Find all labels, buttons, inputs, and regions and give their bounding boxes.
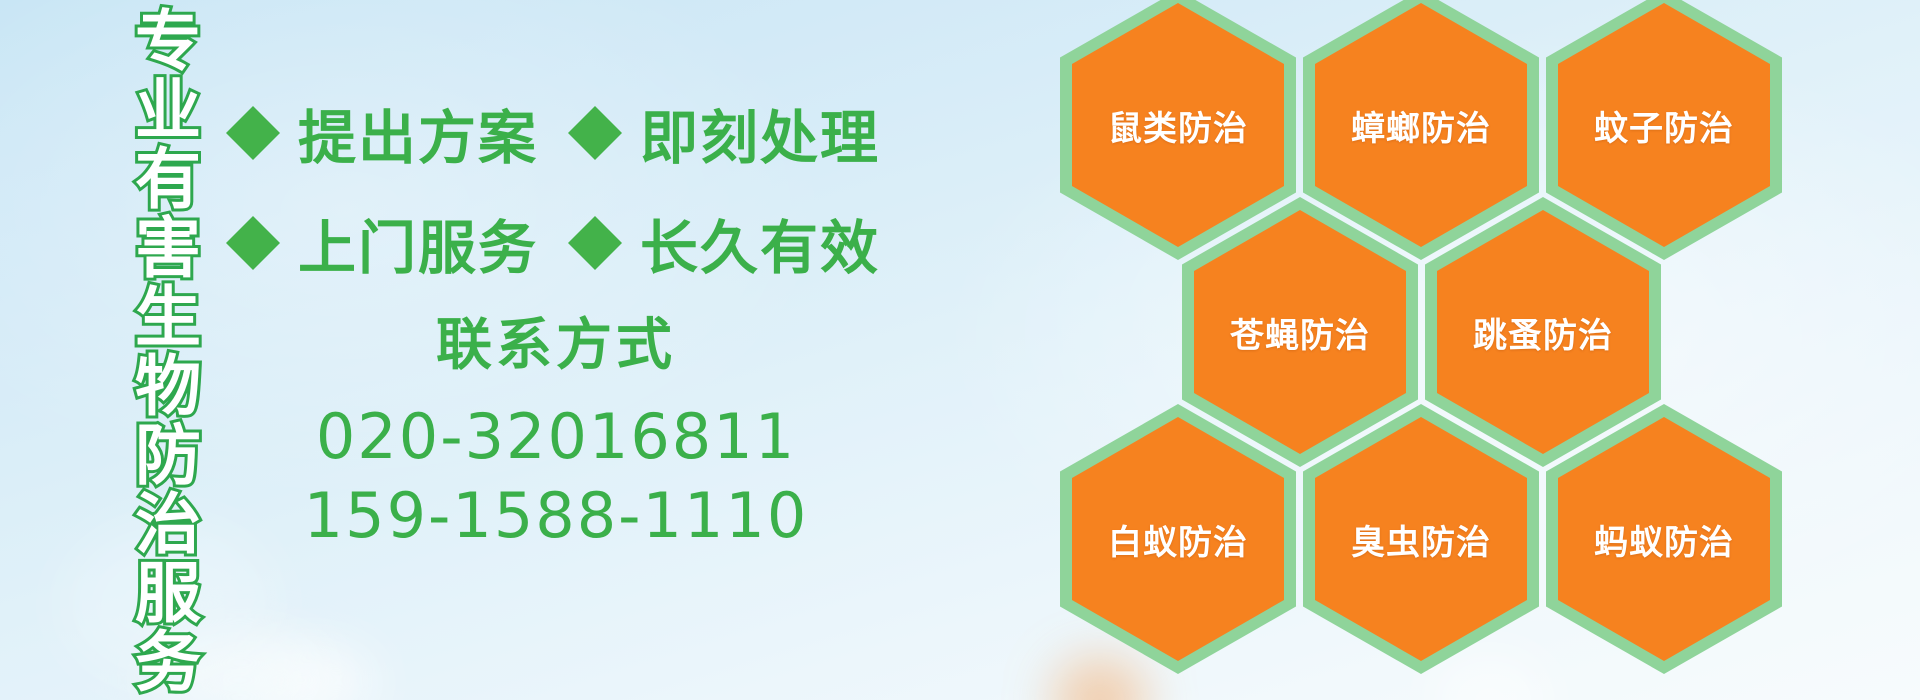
hex-label: 鼠类防治 bbox=[1108, 101, 1248, 150]
hex-inner: 鼠类防治 bbox=[1072, 3, 1284, 247]
feature-label: 长久有效 bbox=[640, 201, 880, 285]
service-honeycomb: 鼠类防治 蟑螂防治 蚊子防治 苍蝇防治 跳蚤防治 白蚁防治 bbox=[1060, 0, 1760, 700]
hex-inner: 白蚁防治 bbox=[1072, 417, 1284, 661]
phone-landline[interactable]: 020-32016811 bbox=[226, 397, 886, 476]
feature-item-proposal: 提出方案 bbox=[226, 91, 538, 175]
feature-row: 上门服务 长久有效 bbox=[226, 188, 876, 298]
feature-label: 上门服务 bbox=[298, 201, 538, 285]
vertical-headline: 专业有害生物防治服务 bbox=[104, 6, 196, 666]
hex-cell-termite[interactable]: 白蚁防治 bbox=[1060, 404, 1296, 674]
hex-inner: 蚂蚁防治 bbox=[1558, 417, 1770, 661]
hex-inner: 蟑螂防治 bbox=[1315, 3, 1527, 247]
hex-label: 跳蚤防治 bbox=[1473, 308, 1613, 357]
feature-label: 即刻处理 bbox=[640, 91, 880, 175]
hex-label: 臭虫防治 bbox=[1351, 515, 1491, 564]
diamond-bullet-icon bbox=[226, 79, 280, 133]
contact-block: 联系方式 020-32016811 159-1588-1110 bbox=[226, 300, 886, 556]
hex-label: 苍蝇防治 bbox=[1230, 308, 1370, 357]
feature-item-onsite: 上门服务 bbox=[226, 201, 538, 285]
phone-mobile[interactable]: 159-1588-1110 bbox=[226, 476, 886, 555]
hex-inner: 苍蝇防治 bbox=[1194, 210, 1406, 454]
diamond-bullet-icon bbox=[568, 189, 622, 243]
background-blob bbox=[245, 648, 375, 700]
feature-item-longlasting: 长久有效 bbox=[568, 201, 880, 285]
hex-inner: 跳蚤防治 bbox=[1437, 210, 1649, 454]
hex-inner: 臭虫防治 bbox=[1315, 417, 1527, 661]
hex-label: 白蚁防治 bbox=[1108, 515, 1248, 564]
feature-label: 提出方案 bbox=[298, 91, 538, 175]
diamond-bullet-icon bbox=[568, 79, 622, 133]
hex-label: 蚂蚁防治 bbox=[1594, 515, 1734, 564]
feature-item-immediate: 即刻处理 bbox=[568, 91, 880, 175]
hex-label: 蚊子防治 bbox=[1594, 101, 1734, 150]
feature-list: 提出方案 即刻处理 上门服务 长久有效 bbox=[226, 78, 876, 298]
contact-title: 联系方式 bbox=[226, 300, 886, 381]
diamond-bullet-icon bbox=[226, 189, 280, 243]
pest-control-banner: 专业有害生物防治服务 提出方案 即刻处理 上门服务 长久有效 联系方式 0 bbox=[0, 0, 1920, 700]
hex-inner: 蚊子防治 bbox=[1558, 3, 1770, 247]
hex-label: 蟑螂防治 bbox=[1351, 101, 1491, 150]
feature-row: 提出方案 即刻处理 bbox=[226, 78, 876, 188]
